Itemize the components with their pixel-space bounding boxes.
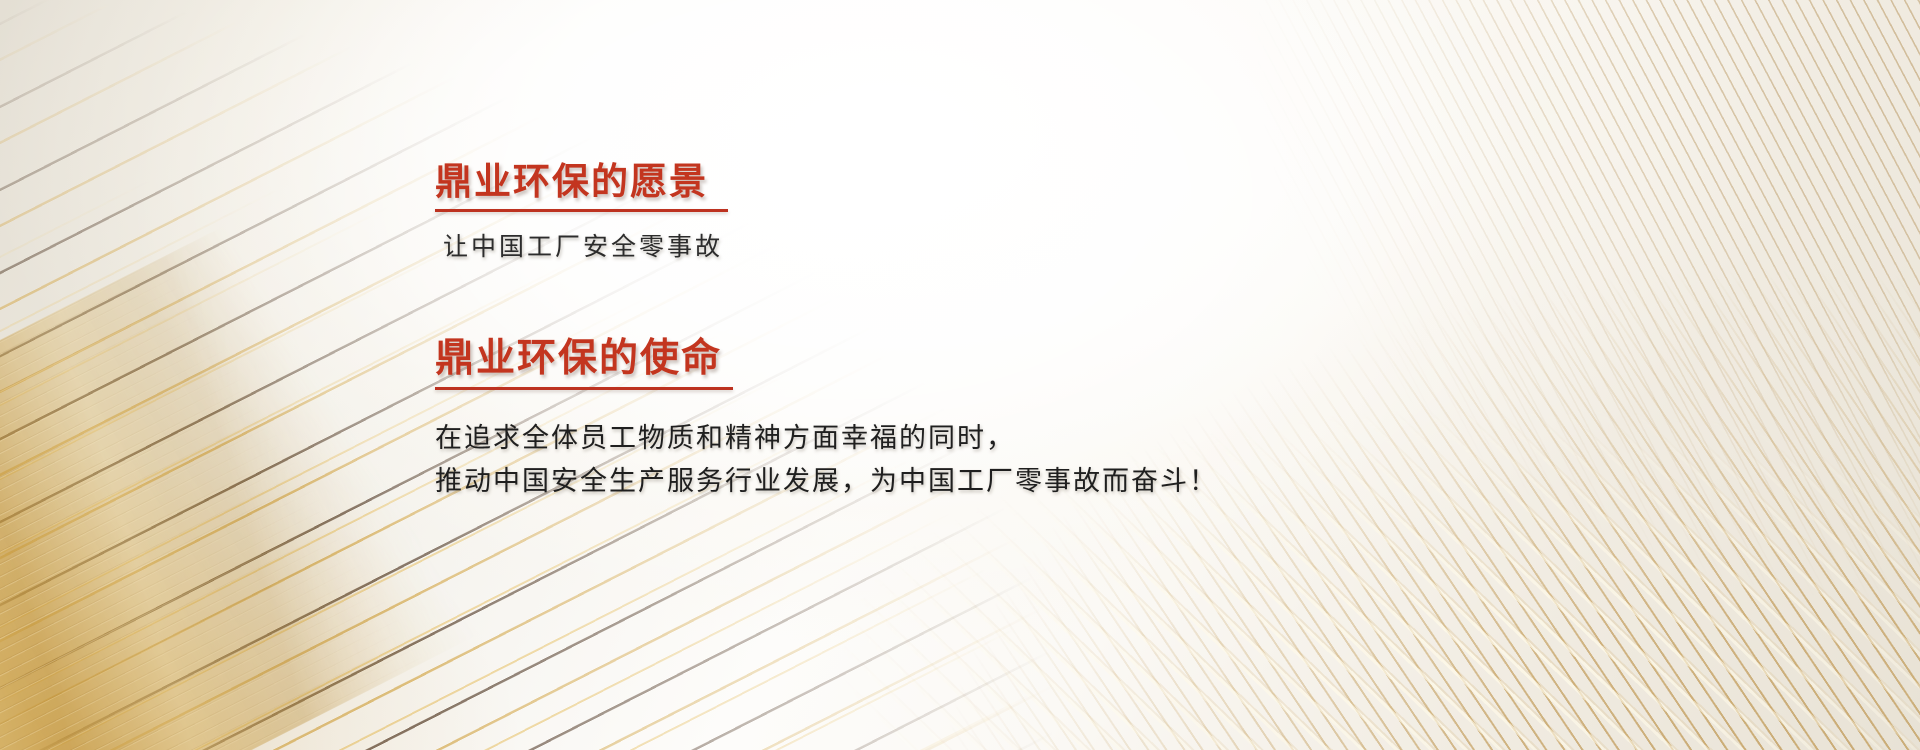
mission-statement-text: 在追求全体员工物质和精神方面幸福的同时， 推动中国安全生产服务行业发展，为中国工…	[435, 417, 1335, 504]
vision-block: 鼎业环保的愿景 让中国工厂安全零事故	[435, 163, 1335, 265]
mission-heading: 鼎业环保的使命	[435, 339, 722, 378]
vision-heading: 鼎业环保的愿景	[435, 163, 708, 200]
mission-statement-line-1: 在追求全体员工物质和精神方面幸福的同时，	[435, 417, 1335, 461]
banner-text-content: 鼎业环保的愿景 让中国工厂安全零事故 鼎业环保的使命 在追求全体员工物质和精神方…	[435, 163, 1335, 504]
vision-statement-text: 让中国工厂安全零事故	[443, 231, 1335, 265]
mission-statement-line-2: 推动中国安全生产服务行业发展，为中国工厂零事故而奋斗！	[435, 460, 1335, 504]
vision-mission-banner: 鼎业环保的愿景 让中国工厂安全零事故 鼎业环保的使命 在追求全体员工物质和精神方…	[0, 0, 1920, 750]
mission-block: 鼎业环保的使命 在追求全体员工物质和精神方面幸福的同时， 推动中国安全生产服务行…	[435, 339, 1335, 504]
vision-heading-underline	[435, 209, 728, 212]
mission-heading-underline	[435, 387, 733, 390]
